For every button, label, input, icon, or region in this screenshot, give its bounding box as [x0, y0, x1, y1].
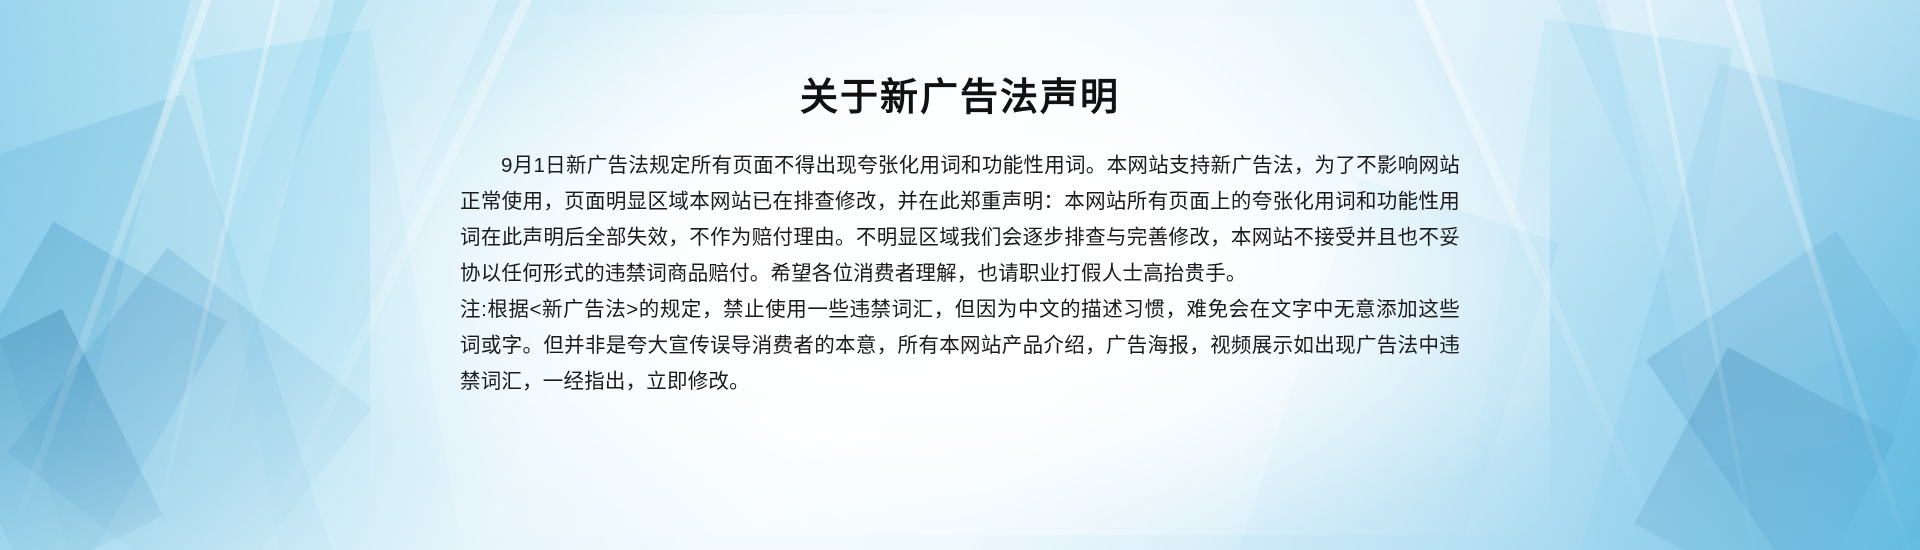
advertising-law-statement-banner: 关于新广告法声明 9月1日新广告法规定所有页面不得出现夸张化用词和功能性用词。本… [0, 0, 1920, 550]
background-shard [0, 94, 344, 550]
background-shard [82, 0, 339, 470]
background-shard [0, 221, 227, 550]
background-shard [1582, 0, 1920, 394]
background-streak [1633, 0, 1762, 550]
statement-body: 9月1日新广告法规定所有页面不得出现夸张化用词和功能性用词。本网站支持新广告法，… [460, 148, 1460, 400]
background-shard [1634, 347, 1896, 550]
background-streak [1714, 0, 1918, 550]
background-shard [1571, 63, 1920, 550]
statement-paragraph-2: 注:根据<新广告法>的规定，禁止使用一些违禁词汇，但因为中文的描述习惯，难免会在… [460, 292, 1460, 400]
background-shard [1457, 19, 1732, 550]
background-shard [1598, 0, 1853, 470]
background-shard [8, 248, 373, 550]
background-shard [0, 0, 327, 375]
background-shard [0, 309, 163, 550]
background-streak [143, 0, 292, 550]
statement-content: 关于新广告法声明 9月1日新广告法规定所有页面不得出现夸张化用词和功能性用词。本… [460, 0, 1460, 400]
statement-paragraph-1: 9月1日新广告法规定所有页面不得出现夸张化用词和功能性用词。本网站支持新广告法，… [460, 148, 1460, 292]
background-streak [0, 0, 219, 550]
page-title: 关于新广告法声明 [460, 78, 1460, 120]
background-shard [193, 29, 468, 550]
background-shard [1646, 231, 1920, 550]
